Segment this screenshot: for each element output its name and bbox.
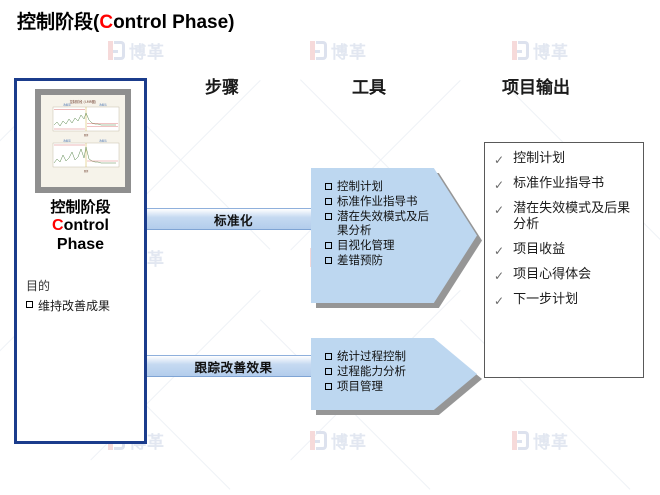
- list-item: 控制计划: [325, 179, 433, 193]
- column-heading-output: 项目输出: [502, 73, 570, 98]
- watermark-logo: 博革: [512, 38, 569, 63]
- phase-title: 控制阶段 Control Phase: [17, 199, 144, 254]
- output-label: 下一步计划: [513, 292, 639, 308]
- square-bullet-icon: [325, 213, 332, 220]
- control-chart-thumbnail: 控制阶段 (I-MR图) 改善前 改善后 观测 改善前 改善后 观测: [35, 89, 131, 193]
- list-item: ✓标准作业指导书: [494, 176, 639, 193]
- tool-label: 统计过程控制: [337, 349, 433, 363]
- brand-logo-icon: [512, 41, 529, 60]
- brand-logo-icon: [310, 41, 327, 60]
- tool-label: 项目管理: [337, 379, 433, 393]
- brand-logo-icon: [108, 41, 125, 60]
- watermark-text: 博革: [533, 38, 569, 63]
- phase-title-en-rest: ontrol: [64, 217, 109, 234]
- page-title-en: ontrol Phase: [113, 12, 228, 33]
- watermark-logo: 博革: [310, 428, 367, 453]
- step-label: 标准化: [214, 210, 253, 229]
- square-bullet-icon: [325, 383, 332, 390]
- square-bullet-icon: [325, 183, 332, 190]
- output-label: 控制计划: [513, 151, 639, 167]
- watermark-text: 博革: [331, 428, 367, 453]
- phase-purpose-item: 维持改善成果: [38, 297, 110, 314]
- tool-label: 控制计划: [337, 179, 433, 193]
- page-title-accent-letter: C: [99, 12, 113, 33]
- svg-text:改善后: 改善后: [99, 139, 107, 143]
- step-bar-standardize[interactable]: 标准化: [146, 208, 321, 230]
- output-label: 潜在失效模式及后果分析: [513, 201, 639, 234]
- list-item: ✓项目心得体会: [494, 267, 639, 284]
- phase-title-accent-letter: C: [52, 217, 64, 234]
- brand-logo-icon: [310, 431, 327, 450]
- square-bullet-icon: [26, 301, 33, 308]
- phase-title-cn: 控制阶段: [17, 199, 144, 217]
- phase-purpose-list: 维持改善成果: [26, 297, 144, 314]
- tools-list-1: 控制计划 标准作业指导书 潜在失效模式及后果分析 目视化管理 差错预防: [325, 179, 433, 268]
- check-icon: ✓: [494, 153, 504, 168]
- phase-purpose-label: 目的: [26, 277, 50, 294]
- control-chart-image: 控制阶段 (I-MR图) 改善前 改善后 观测 改善前 改善后 观测: [41, 95, 125, 187]
- tool-label: 标准作业指导书: [337, 194, 433, 208]
- column-heading-tools: 工具: [352, 73, 386, 98]
- list-item: 标准作业指导书: [325, 194, 433, 208]
- tools-chevron-track-results[interactable]: 统计过程控制 过程能力分析 项目管理: [311, 338, 477, 410]
- watermark-text: 博革: [331, 38, 367, 63]
- watermark-text: 博革: [129, 38, 165, 63]
- tool-label: 过程能力分析: [337, 364, 433, 378]
- list-item: 项目管理: [325, 379, 433, 393]
- list-item: 差错预防: [325, 253, 433, 267]
- tool-label: 目视化管理: [337, 238, 433, 252]
- list-item: 维持改善成果: [26, 297, 144, 314]
- watermark-logo: 博革: [310, 38, 367, 63]
- list-item: 统计过程控制: [325, 349, 433, 363]
- column-heading-steps: 步骤: [205, 73, 239, 98]
- svg-text:改善前: 改善前: [63, 103, 71, 107]
- page-title-paren-close: ): [228, 12, 234, 33]
- svg-text:观测: 观测: [84, 133, 89, 137]
- watermark-logo: 博革: [108, 38, 165, 63]
- page-title: 控制阶段(Control Phase): [17, 7, 234, 34]
- phase-panel: 控制阶段 (I-MR图) 改善前 改善后 观测 改善前 改善后 观测: [14, 78, 147, 444]
- output-label: 项目心得体会: [513, 267, 639, 283]
- square-bullet-icon: [325, 198, 332, 205]
- list-item: ✓潜在失效模式及后果分析: [494, 201, 639, 234]
- output-panel: ✓控制计划 ✓标准作业指导书 ✓潜在失效模式及后果分析 ✓项目收益 ✓项目心得体…: [484, 142, 644, 378]
- step-bar-track-results[interactable]: 跟踪改善效果: [146, 355, 321, 377]
- step-label: 跟踪改善效果: [194, 357, 272, 376]
- phase-title-en-line2: Phase: [17, 236, 144, 255]
- tool-label: 潜在失效模式及后果分析: [337, 209, 433, 237]
- check-icon: ✓: [494, 294, 504, 309]
- list-item: 潜在失效模式及后果分析: [325, 209, 433, 237]
- output-list: ✓控制计划 ✓标准作业指导书 ✓潜在失效模式及后果分析 ✓项目收益 ✓项目心得体…: [494, 151, 639, 317]
- output-label: 项目收益: [513, 242, 639, 258]
- check-icon: ✓: [494, 178, 504, 193]
- page-title-cn: 控制阶段: [17, 12, 93, 33]
- watermark-text: 博革: [533, 428, 569, 453]
- list-item: 过程能力分析: [325, 364, 433, 378]
- check-icon: ✓: [494, 203, 504, 218]
- control-chart-svg: 控制阶段 (I-MR图) 改善前 改善后 观测 改善前 改善后 观测: [41, 95, 125, 187]
- list-item: ✓下一步计划: [494, 292, 639, 309]
- square-bullet-icon: [325, 353, 332, 360]
- tools-chevron-standardize[interactable]: 控制计划 标准作业指导书 潜在失效模式及后果分析 目视化管理 差错预防: [311, 168, 477, 303]
- svg-text:改善后: 改善后: [99, 103, 107, 107]
- output-label: 标准作业指导书: [513, 176, 639, 192]
- square-bullet-icon: [325, 368, 332, 375]
- list-item: ✓项目收益: [494, 242, 639, 259]
- tool-label: 差错预防: [337, 253, 433, 267]
- watermark-logo: 博革: [512, 428, 569, 453]
- phase-title-en-line1: Control: [17, 217, 144, 236]
- list-item: ✓控制计划: [494, 151, 639, 168]
- check-icon: ✓: [494, 244, 504, 259]
- svg-text:控制阶段 (I-MR图): 控制阶段 (I-MR图): [70, 99, 97, 104]
- check-icon: ✓: [494, 269, 504, 284]
- square-bullet-icon: [325, 257, 332, 264]
- svg-text:改善前: 改善前: [63, 139, 71, 143]
- square-bullet-icon: [325, 242, 332, 249]
- svg-text:观测: 观测: [84, 169, 89, 173]
- tools-list-2: 统计过程控制 过程能力分析 项目管理: [325, 349, 433, 394]
- list-item: 目视化管理: [325, 238, 433, 252]
- brand-logo-icon: [512, 431, 529, 450]
